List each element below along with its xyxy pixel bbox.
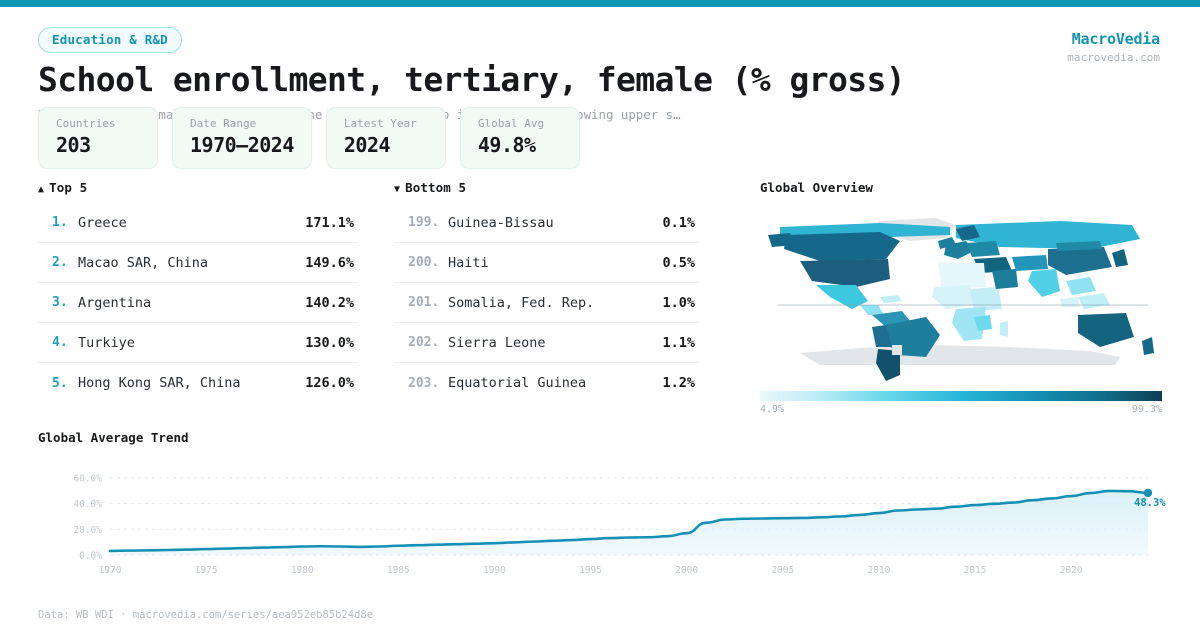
list-item[interactable]: 200. Haiti 0.5% [394, 243, 699, 283]
country-name: Haiti [448, 255, 662, 271]
country-name: Argentina [78, 295, 305, 311]
rank-lists: ▲Top 5 1. Greece 171.1% 2. Macao SAR, Ch… [38, 180, 699, 403]
top-5-list: ▲Top 5 1. Greece 171.1% 2. Macao SAR, Ch… [38, 180, 358, 403]
stat-cards: Countries 203 Date Range 1970–2024 Lates… [38, 107, 580, 169]
top-5-heading: ▲Top 5 [38, 180, 358, 195]
stat-value: 203 [56, 133, 140, 157]
country-value: 0.5% [662, 255, 695, 271]
svg-text:20.0%: 20.0% [73, 525, 102, 536]
infographic-page: Education & R&D School enrollment, terti… [0, 0, 1200, 630]
global-overview-panel: Global Overview [760, 180, 1162, 415]
svg-text:0.0%: 0.0% [79, 551, 102, 562]
bottom-5-list: ▼Bottom 5 199. Guinea-Bissau 0.1% 200. H… [394, 180, 699, 403]
stat-label: Global Avg [478, 117, 562, 130]
country-name: Guinea-Bissau [448, 215, 662, 231]
top-accent-bar [0, 0, 1200, 7]
svg-text:2020: 2020 [1060, 565, 1083, 576]
list-item[interactable]: 5. Hong Kong SAR, China 126.0% [38, 363, 358, 403]
rank-number: 203. [408, 376, 448, 391]
list-item[interactable]: 3. Argentina 140.2% [38, 283, 358, 323]
svg-text:2015: 2015 [964, 565, 987, 576]
stat-label: Latest Year [344, 117, 428, 130]
country-name: Sierra Leone [448, 335, 662, 351]
bottom-5-heading-label: Bottom 5 [405, 180, 466, 195]
svg-text:1970: 1970 [99, 565, 122, 576]
caret-down-icon: ▼ [394, 184, 400, 195]
svg-text:1990: 1990 [483, 565, 506, 576]
stat-card-latest-year: Latest Year 2024 [326, 107, 446, 169]
rank-number: 3. [52, 295, 78, 310]
country-value: 1.0% [662, 295, 695, 311]
country-name: Turkiye [78, 335, 305, 351]
country-value: 1.2% [662, 375, 695, 391]
list-item[interactable]: 2. Macao SAR, China 149.6% [38, 243, 358, 283]
svg-text:1975: 1975 [195, 565, 218, 576]
stat-value: 1970–2024 [190, 133, 294, 157]
stat-value: 2024 [344, 133, 428, 157]
svg-text:2005: 2005 [771, 565, 794, 576]
rank-number: 2. [52, 255, 78, 270]
country-value: 1.1% [662, 335, 695, 351]
rank-number: 200. [408, 255, 448, 270]
list-item[interactable]: 4. Turkiye 130.0% [38, 323, 358, 363]
country-name: Equatorial Guinea [448, 375, 662, 391]
stat-value: 49.8% [478, 133, 562, 157]
trend-svg: 0.0%20.0%40.0%60.0%197019751980198519901… [38, 461, 1162, 579]
stat-card-global-avg: Global Avg 49.8% [460, 107, 580, 169]
legend-min-value: 4.9% [760, 404, 784, 415]
header: Education & R&D School enrollment, terti… [0, 7, 1200, 122]
stat-card-date-range: Date Range 1970–2024 [172, 107, 312, 169]
country-name: Macao SAR, China [78, 255, 305, 271]
country-value: 171.1% [305, 215, 354, 231]
list-item[interactable]: 199. Guinea-Bissau 0.1% [394, 203, 699, 243]
stat-label: Countries [56, 117, 140, 130]
rank-number: 5. [52, 376, 78, 391]
trend-endpoint-label: 48.3% [1134, 497, 1166, 509]
rank-number: 199. [408, 215, 448, 230]
list-item[interactable]: 1. Greece 171.1% [38, 203, 358, 243]
svg-text:1980: 1980 [291, 565, 314, 576]
footer-source: Data: WB WDI · macrovedia.com/series/aea… [38, 609, 373, 621]
global-average-trend-chart: Global Average Trend 0.0%20.0%40.0%60.0%… [38, 430, 1162, 579]
map-color-scale [760, 391, 1162, 401]
brand-name: MacroVedia [1067, 30, 1160, 48]
world-map-svg [760, 205, 1162, 385]
svg-text:40.0%: 40.0% [73, 499, 102, 510]
world-choropleth-map[interactable] [760, 205, 1162, 385]
svg-text:1985: 1985 [387, 565, 410, 576]
svg-text:1995: 1995 [579, 565, 602, 576]
country-value: 0.1% [662, 215, 695, 231]
top-5-heading-label: Top 5 [49, 180, 87, 195]
country-name: Somalia, Fed. Rep. [448, 295, 662, 311]
country-value: 149.6% [305, 255, 354, 271]
bottom-5-heading: ▼Bottom 5 [394, 180, 699, 195]
map-heading: Global Overview [760, 180, 1162, 195]
brand-url: macrovedia.com [1067, 51, 1160, 64]
stat-card-countries: Countries 203 [38, 107, 158, 169]
list-item[interactable]: 202. Sierra Leone 1.1% [394, 323, 699, 363]
rank-number: 201. [408, 295, 448, 310]
svg-text:2010: 2010 [867, 565, 890, 576]
rank-number: 202. [408, 335, 448, 350]
svg-text:60.0%: 60.0% [73, 473, 102, 484]
list-item[interactable]: 201. Somalia, Fed. Rep. 1.0% [394, 283, 699, 323]
country-value: 130.0% [305, 335, 354, 351]
map-legend-labels: 4.9% 99.3% [760, 404, 1162, 415]
rank-number: 1. [52, 215, 78, 230]
country-value: 126.0% [305, 375, 354, 391]
legend-max-value: 99.3% [1132, 404, 1162, 415]
country-name: Greece [78, 215, 305, 231]
trend-heading: Global Average Trend [38, 430, 1162, 445]
list-item[interactable]: 203. Equatorial Guinea 1.2% [394, 363, 699, 403]
caret-up-icon: ▲ [38, 184, 44, 195]
page-title: School enrollment, tertiary, female (% g… [38, 60, 1200, 99]
country-name: Hong Kong SAR, China [78, 375, 305, 391]
country-value: 140.2% [305, 295, 354, 311]
svg-text:2000: 2000 [675, 565, 698, 576]
stat-label: Date Range [190, 117, 294, 130]
brand[interactable]: MacroVedia macrovedia.com [1067, 30, 1160, 64]
category-badge[interactable]: Education & R&D [38, 27, 182, 53]
trend-plot-area[interactable]: 0.0%20.0%40.0%60.0%197019751980198519901… [38, 461, 1162, 579]
rank-number: 4. [52, 335, 78, 350]
